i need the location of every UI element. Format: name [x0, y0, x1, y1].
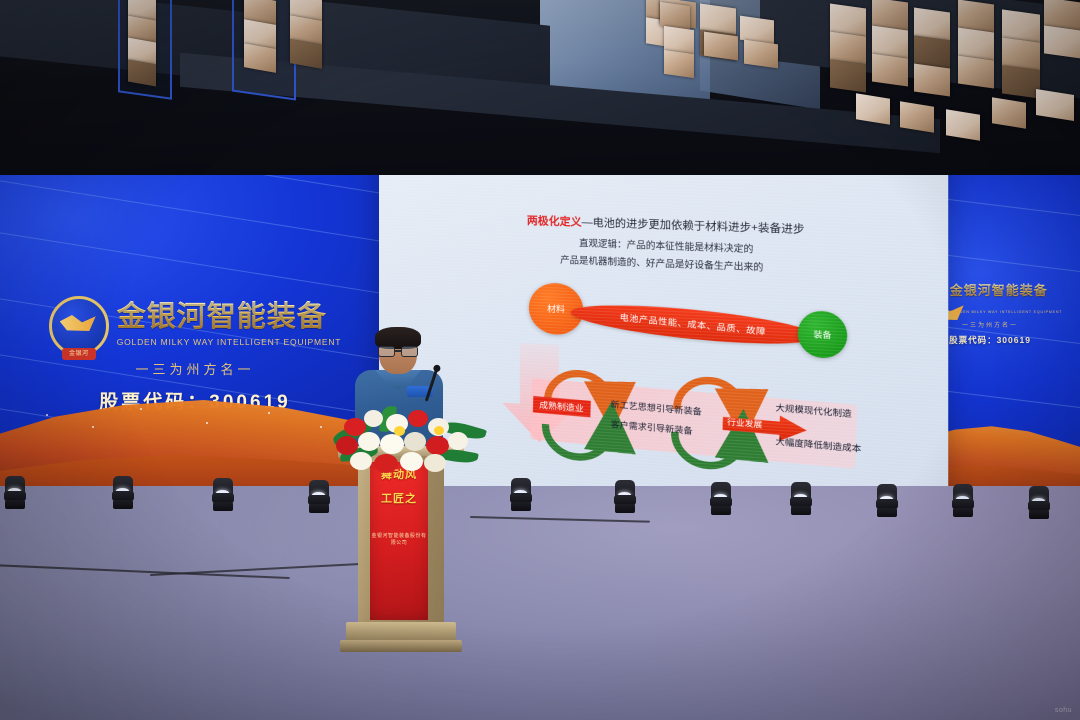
moving-head-light	[510, 478, 532, 512]
podium-banner: 舞动风 工匠之 金银河智能装备股份有限公司	[370, 462, 428, 620]
slide-definition: 两极化定义—电池的进步更加依赖于材料进步+装备进步	[527, 213, 805, 237]
moving-head-light	[112, 476, 134, 510]
brand-tagline: 一三为州方名一	[30, 359, 360, 378]
moving-head-light	[710, 482, 732, 516]
diagram-band-label: 电池产品性能、成本、品质、故障	[570, 298, 819, 352]
moving-head-light	[4, 476, 26, 510]
flower-arrangement	[334, 392, 484, 476]
floor-sheen	[0, 486, 1080, 720]
definition-keyword: 两极化定义	[527, 215, 582, 229]
projection-screen: 锂离子电池发展具有明显的两极化特点 两极化定义—电池的进步更加依赖于材料进步+装…	[379, 124, 948, 540]
moving-head-light	[614, 480, 636, 514]
brand-name-cn-right: 金银河智能装备	[950, 283, 1048, 298]
brand-name-en-right: GOLDEN MILKY WAY INTELLIGENT EQUIPMENT	[950, 310, 1062, 314]
brand-name-cn: 金银河智能装备	[117, 301, 327, 333]
moving-head-light	[952, 484, 974, 518]
brand-lockup-left: 金银河 金银河智能装备 GOLDEN MILKY WAY INTELLIGENT…	[30, 296, 360, 414]
diagram-node-equipment: 装备	[798, 310, 847, 359]
slide-subline-1: 直观逻辑：产品的本征性能是材料决定的	[579, 236, 753, 256]
speaker-glasses-icon	[378, 346, 418, 355]
podium-banner-sub: 金银河智能装备股份有限公司	[370, 532, 428, 546]
brand-name-en: GOLDEN MILKY WAY INTELLIGENT EQUIPMENT	[117, 337, 342, 347]
definition-text: —电池的进步更加依赖于材料进步+装备进步	[582, 216, 805, 236]
slide-subline-2: 产品是机器制造的、好产品是好设备生产出来的	[560, 253, 763, 274]
moving-head-light	[212, 478, 234, 512]
emblem-badge: 金银河	[62, 348, 96, 360]
podium-banner-line-2: 工匠之	[370, 492, 428, 507]
company-emblem-icon: 金银河	[49, 296, 109, 356]
moving-head-light	[308, 480, 330, 514]
moving-head-light	[876, 484, 898, 518]
podium-base-plinth	[340, 640, 462, 652]
moving-head-light	[790, 482, 812, 516]
slide-content: 锂离子电池发展具有明显的两极化特点 两极化定义—电池的进步更加依赖于材料进步+装…	[379, 124, 948, 540]
stage-floor	[0, 486, 1080, 720]
watermark: sohu	[1055, 707, 1072, 714]
ceiling-truss	[0, 0, 1080, 175]
conference-stage-photo: 金银河 金银河智能装备 GOLDEN MILKY WAY INTELLIGENT…	[0, 0, 1080, 720]
moving-head-light	[1028, 486, 1050, 520]
